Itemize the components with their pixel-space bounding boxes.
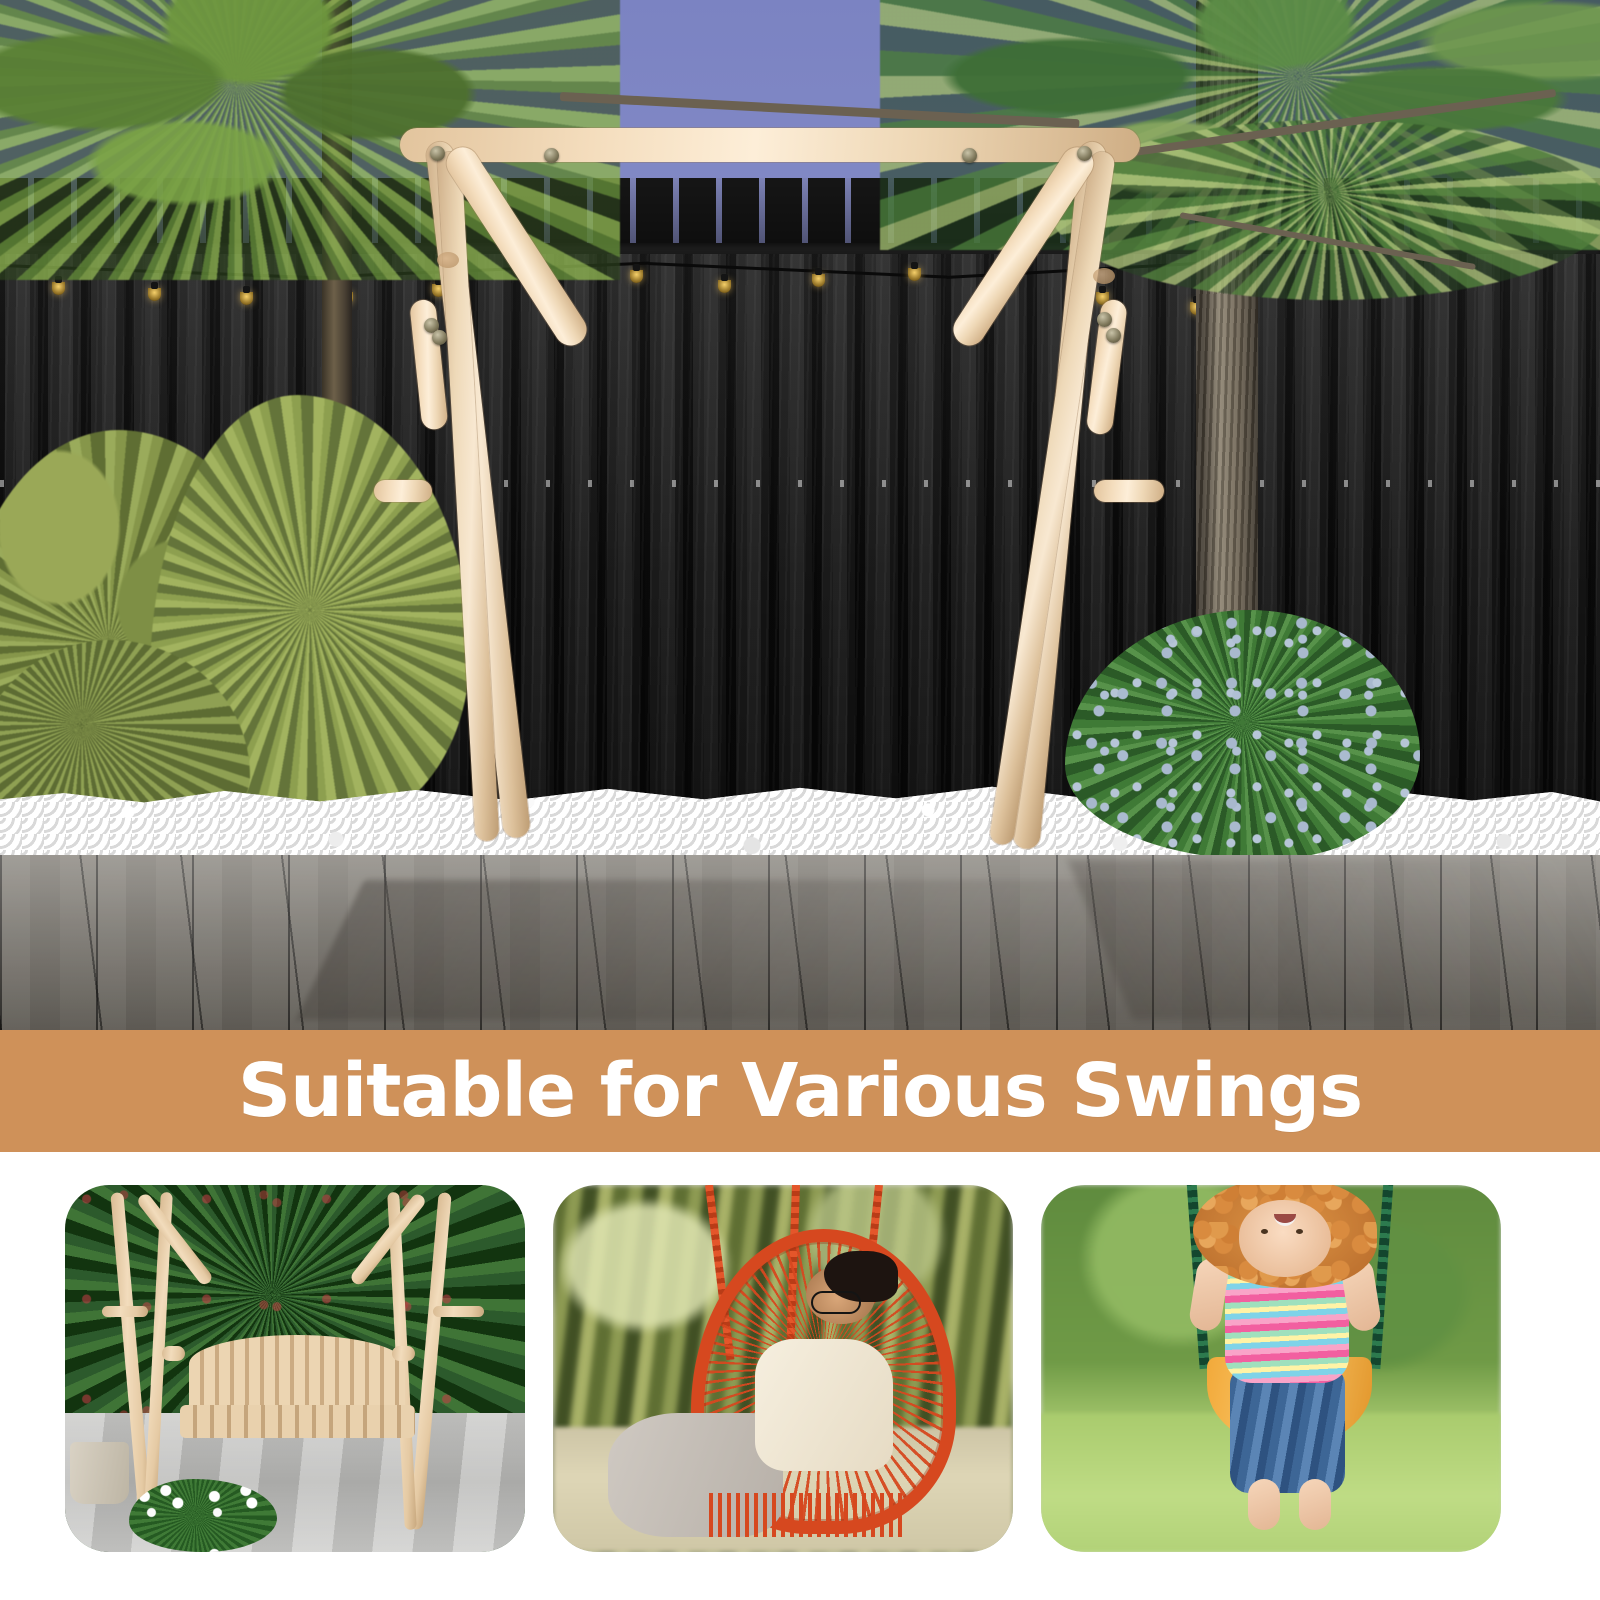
person-shirt xyxy=(755,1339,893,1471)
bolt xyxy=(430,146,445,161)
bench-frame-peg xyxy=(102,1306,148,1317)
swing-peg-right xyxy=(1094,480,1164,502)
headline-banner: Suitable for Various Swings xyxy=(0,1030,1600,1152)
child-leg xyxy=(1299,1479,1331,1530)
bench-armrest-left xyxy=(162,1346,185,1361)
bolt xyxy=(544,148,559,163)
child-leg xyxy=(1248,1479,1280,1530)
product-marketing-image: Suitable for Various Swings xyxy=(0,0,1600,1600)
banner-headline: Suitable for Various Swings xyxy=(0,1030,1600,1152)
plant-pot xyxy=(70,1442,130,1504)
bolt xyxy=(432,330,447,345)
bench-armrest-right xyxy=(392,1346,415,1361)
thumbnail-row xyxy=(0,1152,1600,1600)
bench-seat-slats xyxy=(180,1405,415,1438)
child-face xyxy=(1239,1200,1331,1277)
frame-shadow-right xyxy=(1068,860,1600,1020)
bolt xyxy=(962,148,977,163)
eyeglasses xyxy=(811,1291,861,1313)
bench-frame-peg xyxy=(433,1306,484,1317)
bolt xyxy=(1097,312,1112,327)
wood-knot xyxy=(1093,268,1115,284)
bench-backrest-slats xyxy=(189,1335,405,1416)
thumbnail-macrame-hanging-chair[interactable] xyxy=(553,1185,1013,1552)
swing-peg-left xyxy=(374,480,432,502)
macrame-fringe xyxy=(709,1493,902,1537)
thumbnail-child-on-belt-swing[interactable] xyxy=(1041,1185,1501,1552)
smile xyxy=(1274,1214,1296,1226)
denim-shorts xyxy=(1230,1369,1345,1494)
wood-knot xyxy=(437,252,459,268)
hero-photo xyxy=(0,0,1600,1030)
swing-top-beam xyxy=(400,128,1140,162)
bolt xyxy=(1077,146,1092,161)
bolt xyxy=(1106,328,1121,343)
thumbnail-wooden-bench-swing[interactable] xyxy=(65,1185,525,1552)
